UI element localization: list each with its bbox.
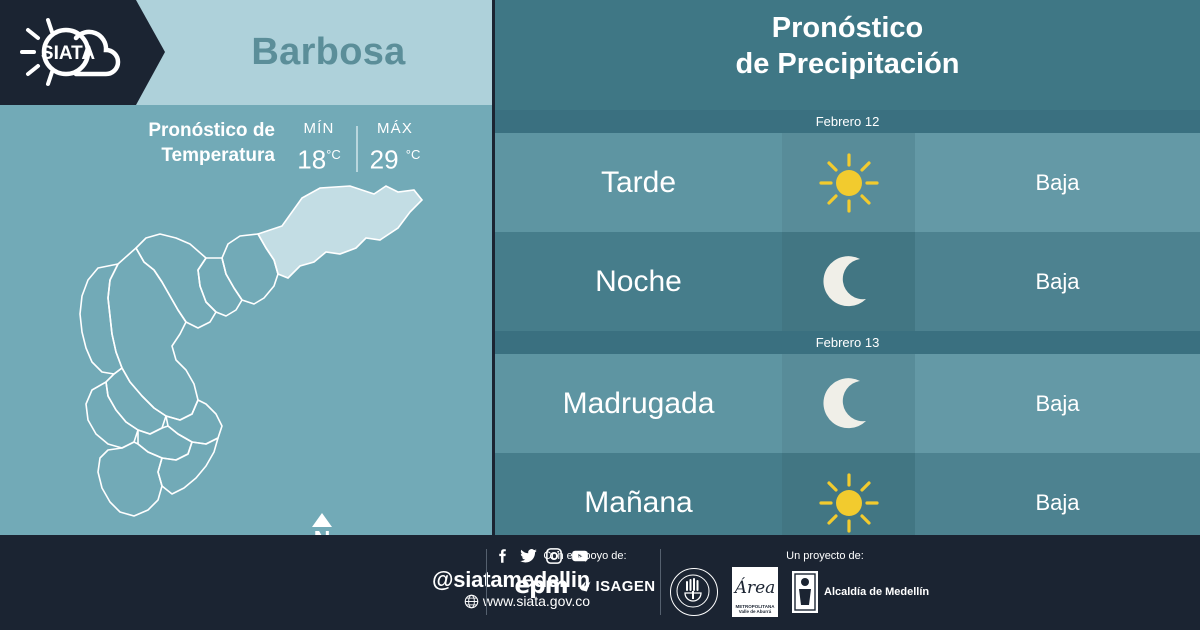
temperature-min-label: MÍN bbox=[282, 118, 356, 140]
forecast-table: Febrero 12 Tarde bbox=[495, 110, 1200, 552]
siata-logo-text: SIATA bbox=[41, 43, 95, 64]
alcaldia-text: Alcaldía de Medellín bbox=[824, 586, 929, 598]
date-band-day2: Febrero 13 bbox=[495, 331, 1200, 354]
weather-icon-cell bbox=[782, 232, 915, 331]
left-header-band: SIATA Barbosa bbox=[0, 0, 492, 105]
area-subtitle-line2: Valle de Aburrá bbox=[732, 609, 778, 614]
precipitation-level: Baja bbox=[915, 133, 1200, 232]
isagen-mark-icon bbox=[578, 579, 593, 594]
forecast-row[interactable]: Tarde bbox=[495, 133, 1200, 232]
period-label: Tarde bbox=[495, 133, 782, 232]
temperature-max-number: 29 bbox=[370, 145, 399, 175]
map-region-10[interactable] bbox=[98, 442, 162, 516]
municipality-map: N bbox=[30, 182, 460, 532]
project-logos: Área METROPOLITANA Valle de Aburrá bbox=[670, 567, 929, 617]
weather-icon-cell bbox=[782, 354, 915, 453]
map-region-barbosa[interactable] bbox=[258, 186, 422, 278]
temperature-max: MÁX 29 °C bbox=[358, 118, 432, 175]
left-panel: SIATA Barbosa Pronóstico de Temperatura … bbox=[0, 0, 492, 535]
medellin-seal-icon bbox=[670, 568, 718, 616]
project-caption: Un proyecto de: bbox=[725, 549, 925, 563]
footer-divider-2 bbox=[660, 549, 661, 615]
temperature-title-line1: Pronóstico de bbox=[60, 118, 275, 143]
precipitation-panel: Pronóstico de Precipitación Febrero 12 T… bbox=[495, 0, 1200, 535]
map-region-9[interactable] bbox=[138, 426, 192, 460]
seal-inner-icon bbox=[671, 569, 715, 613]
map-svg bbox=[30, 182, 460, 532]
map-region-4[interactable] bbox=[108, 248, 198, 420]
moon-icon bbox=[818, 251, 880, 313]
temperature-max-label: MÁX bbox=[358, 118, 432, 140]
temperature-title-line2: Temperatura bbox=[60, 143, 275, 168]
precipitation-title-line2: de Precipitación bbox=[495, 46, 1200, 82]
footer: @siatamedellin www.siata.gov.co Con el a… bbox=[0, 535, 1200, 630]
temperature-max-value: 29 °C bbox=[358, 140, 432, 175]
sun-icon bbox=[817, 471, 881, 535]
period-label: Noche bbox=[495, 232, 782, 331]
area-subtitle: METROPOLITANA Valle de Aburrá bbox=[732, 604, 778, 614]
globe-icon bbox=[464, 594, 479, 609]
isagen-text: ISAGEN bbox=[596, 578, 656, 595]
temperature-min: MÍN 18°C bbox=[282, 118, 356, 175]
precipitation-title-line1: Pronóstico bbox=[495, 10, 1200, 46]
map-region-2[interactable] bbox=[198, 258, 242, 316]
weather-icon-cell bbox=[782, 133, 915, 232]
map-region-6[interactable] bbox=[106, 368, 166, 434]
forecast-row[interactable]: Noche Baja bbox=[495, 232, 1200, 331]
map-region-3[interactable] bbox=[136, 234, 216, 328]
footer-divider-1 bbox=[486, 549, 487, 615]
crest-inner-icon bbox=[792, 571, 818, 613]
temperature-min-unit: °C bbox=[326, 147, 341, 162]
forecast-row[interactable]: Madrugada Baja bbox=[495, 354, 1200, 453]
map-region-7[interactable] bbox=[86, 382, 138, 448]
alcaldia-crest-icon bbox=[792, 571, 818, 613]
temperature-block: Pronóstico de Temperatura MÍN 18°C MÁX 2… bbox=[0, 118, 492, 180]
temperature-values: MÍN 18°C MÁX 29 °C bbox=[282, 118, 432, 175]
sun-cloud-icon: SIATA bbox=[14, 12, 132, 92]
temperature-max-unit: °C bbox=[406, 147, 421, 162]
epm-logo: epm bbox=[515, 573, 568, 599]
weather-forecast-infographic: SIATA Barbosa Pronóstico de Temperatura … bbox=[0, 0, 1200, 630]
area-script-text: Área bbox=[732, 578, 778, 598]
support-logos: epm ISAGEN bbox=[505, 573, 665, 599]
city-name: Barbosa bbox=[165, 0, 492, 105]
map-region-11[interactable] bbox=[158, 438, 218, 494]
temperature-min-value: 18°C bbox=[282, 140, 356, 175]
map-region-8[interactable] bbox=[166, 400, 222, 444]
siata-logo-badge: SIATA bbox=[0, 0, 165, 105]
area-metropolitana-logo: Área METROPOLITANA Valle de Aburrá bbox=[732, 567, 778, 617]
alcaldia-logo: Alcaldía de Medellín bbox=[792, 571, 929, 613]
temperature-min-number: 18 bbox=[297, 145, 326, 175]
moon-icon bbox=[818, 373, 880, 435]
map-region-5[interactable] bbox=[80, 264, 122, 374]
support-caption: Con el apoyo de: bbox=[505, 549, 665, 563]
date-band-day1: Febrero 12 bbox=[495, 110, 1200, 133]
isagen-logo: ISAGEN bbox=[578, 578, 656, 595]
period-label: Madrugada bbox=[495, 354, 782, 453]
precipitation-level: Baja bbox=[915, 354, 1200, 453]
precipitation-level: Baja bbox=[915, 232, 1200, 331]
temperature-title: Pronóstico de Temperatura bbox=[60, 118, 275, 168]
north-arrow-icon bbox=[312, 513, 332, 527]
sun-icon bbox=[817, 151, 881, 215]
precipitation-title: Pronóstico de Precipitación bbox=[495, 10, 1200, 82]
support-block: Con el apoyo de: epm ISAGEN bbox=[505, 549, 665, 599]
